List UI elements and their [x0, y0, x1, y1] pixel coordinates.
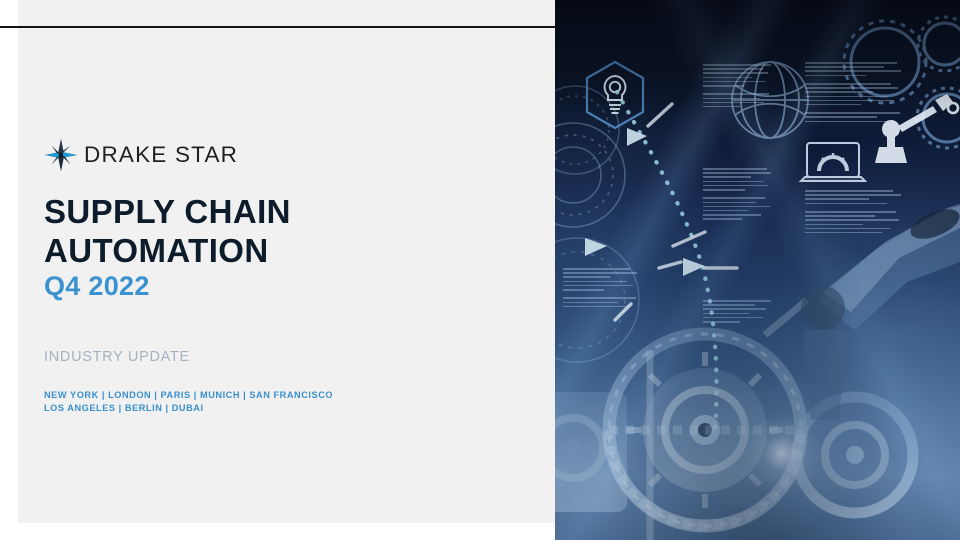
document-kicker: INDUSTRY UPDATE — [44, 349, 190, 365]
office-locations: NEW YORK | LONDON | PARIS | MUNICH | SAN… — [44, 389, 464, 414]
header-rule — [0, 26, 555, 28]
office-locations-line-1: NEW YORK | LONDON | PARIS | MUNICH | SAN… — [44, 390, 333, 400]
page-title-line-1: SUPPLY CHAIN — [44, 193, 291, 230]
brand-wordmark: DRAKE STAR — [84, 144, 238, 167]
period-label: Q4 2022 — [44, 270, 150, 302]
office-locations-line-2: LOS ANGELES | BERLIN | DUBAI — [44, 403, 204, 413]
title-slide: DRAKE STAR SUPPLY CHAIN AUTOMATION Q4 20… — [0, 0, 960, 540]
page-title: SUPPLY CHAIN AUTOMATION — [44, 192, 514, 270]
brand-logo: DRAKE STAR — [44, 138, 314, 172]
hero-vignette — [555, 0, 960, 540]
page-title-line-2: AUTOMATION — [44, 232, 269, 269]
hero-image — [555, 0, 960, 540]
compass-star-icon — [44, 138, 78, 172]
